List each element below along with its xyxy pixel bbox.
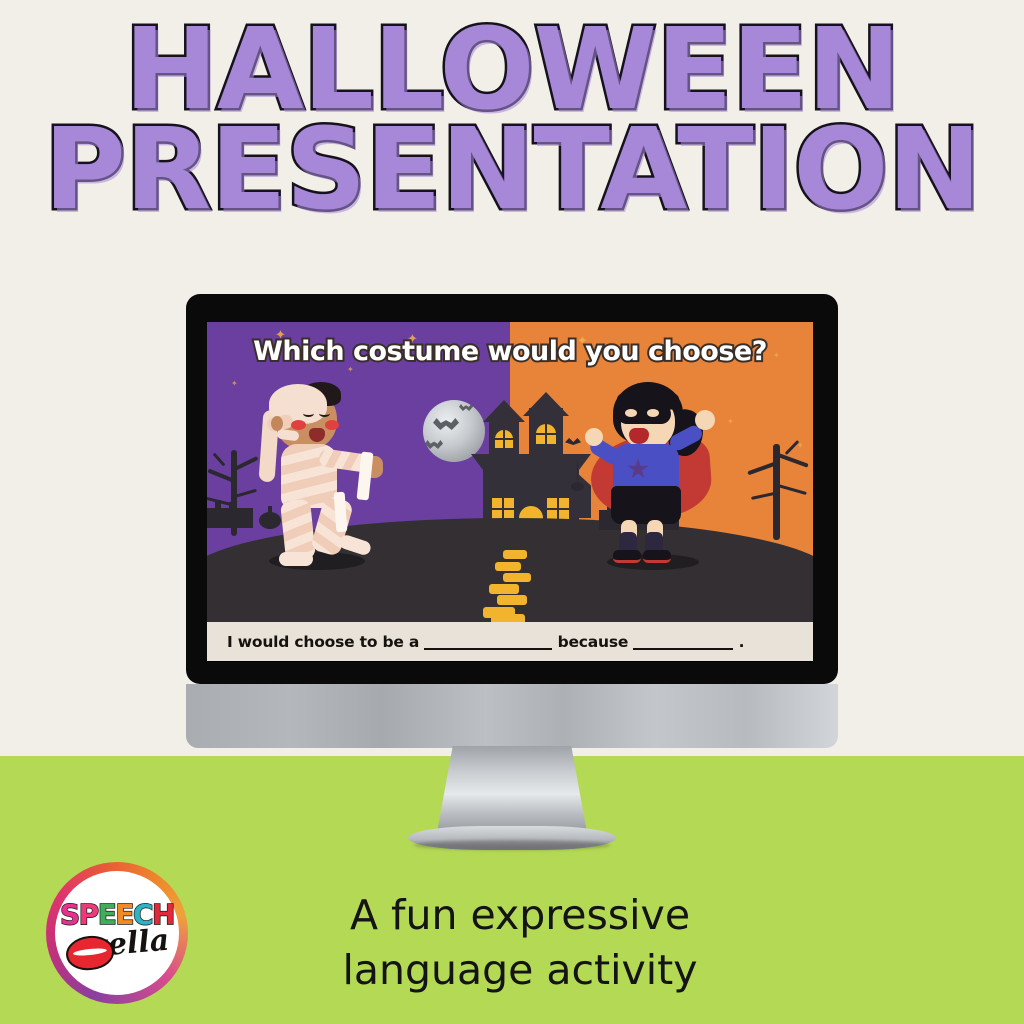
sentence-part-2: because [558, 633, 629, 651]
logo-letter: E [98, 898, 116, 931]
fence-post [215, 500, 221, 516]
path-stone [503, 550, 527, 559]
superhero-character [585, 378, 725, 568]
crow-icon [565, 438, 581, 445]
tagline-line-2: language activity [260, 943, 780, 998]
sparkle-icon: ✦ [727, 418, 734, 426]
sparkle-icon: ✦ [347, 366, 354, 374]
spider-thread [577, 462, 578, 484]
house-roof-left [483, 400, 525, 422]
monitor-stand [436, 746, 588, 838]
sentence-blank-costume[interactable] [424, 648, 552, 650]
tagline-line-1: A fun expressive [260, 888, 780, 943]
sentence-part-1: I would choose to be a [227, 633, 419, 651]
brand-logo: SPEECH zella [46, 862, 188, 1004]
mummy-character [255, 380, 385, 570]
page-title: HALLOWEEN PRESENTATION [0, 18, 1024, 222]
house-window-lower-left [492, 498, 514, 520]
bare-tree-right [743, 430, 813, 540]
monitor-stand-shadow [414, 840, 610, 850]
house-window-lower-right [547, 498, 569, 520]
sentence-frame-text: I would choose to be a because . [207, 633, 744, 651]
sparkle-icon: ✦ [231, 380, 238, 388]
tagline: A fun expressive language activity [260, 888, 780, 997]
spider-icon [571, 482, 584, 491]
path-stone [497, 595, 527, 605]
logo-letter: S [60, 898, 79, 931]
slide-screen: ✦ ✦ ✦ ✦ ✦ ✦ ✦ ✦ ✦ [207, 322, 813, 662]
path-stone [495, 562, 521, 571]
sentence-blank-reason[interactable] [633, 648, 733, 650]
slide-question-title: Which costume would you choose? [207, 336, 813, 367]
path-stone [489, 584, 519, 594]
house-window-tower-right [536, 424, 556, 444]
path-stone [503, 573, 531, 582]
sentence-frame-bar: I would choose to be a because . [207, 622, 813, 661]
poster-canvas: HALLOWEEN PRESENTATION ✦ ✦ ✦ ✦ ✦ ✦ ✦ ✦ ✦ [0, 0, 1024, 1024]
monitor-chin [186, 684, 838, 748]
sentence-part-3: . [739, 633, 745, 651]
house-window-tower-left [495, 430, 513, 448]
fence-post [229, 502, 235, 516]
headline-line-2: PRESENTATION [0, 118, 1024, 222]
logo-letter: P [79, 898, 98, 931]
